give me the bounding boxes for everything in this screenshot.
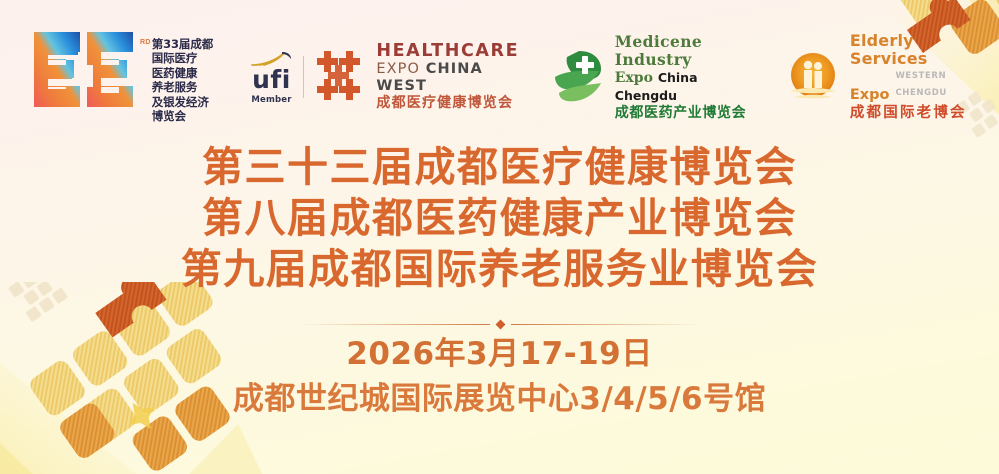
healthcare-expo-line-1: HEALTHCARE (376, 42, 519, 61)
elderly-expo-line-2-main: Expo (850, 87, 890, 104)
ornamental-divider (298, 318, 702, 330)
healthcare-expo-logo: HEALTHCARE EXPO CHINA WEST 成都医疗健康博览会 (312, 42, 519, 112)
headline-block: 第三十三届成都医疗健康博览会 第八届成都医药健康产业博览会 第九届成都国际养老服… (0, 142, 999, 295)
healthcare-expo-line-3: 成都医疗健康博览会 (376, 95, 519, 112)
headline-line-3: 第九届成都国际养老服务业博览会 (0, 244, 999, 295)
divider-rule-left (298, 324, 490, 325)
edition-logo-text: RD 第33届成都 国际医疗 医药健康 养老服务 及银发经济 博览会 (140, 37, 213, 123)
ufi-member-logo: ufi Member (250, 50, 294, 105)
elderly-expo-line-1: Elderly Services (850, 32, 973, 68)
medicine-expo-text: Medicene Industry Expo China Chengdu 成都医… (615, 33, 754, 122)
edition-logo: RD 第33届成都 国际医疗 医药健康 养老服务 及银发经济 博览会 (32, 27, 213, 127)
diamond-ornament-icon (495, 319, 505, 329)
medicine-expo-line-2: Expo China Chengdu (615, 69, 754, 105)
medicine-leaf-cross-icon (549, 49, 607, 105)
divider-rule-right (511, 324, 703, 325)
medicine-expo-logo: Medicene Industry Expo China Chengdu 成都医… (549, 33, 754, 122)
edition-text-line-2: 国际医疗 (152, 51, 213, 65)
event-date: 2026年3月17-19日 (0, 333, 999, 375)
elderly-expo-line-2-sub: WESTERN CHENGDU (895, 68, 973, 102)
ufi-swoosh-icon (250, 50, 294, 67)
healthcare-expo-line-2-light: EXPO (376, 61, 425, 77)
medicine-expo-line-1: Medicene Industry (615, 33, 754, 69)
medicine-expo-line-2-serif: Expo (615, 70, 658, 86)
expo-banner: RD 第33届成都 国际医疗 医药健康 养老服务 及银发经济 博览会 (0, 0, 999, 474)
logo-separator-1 (303, 56, 304, 98)
event-venue: 成都世纪城国际展览中心3/4/5/6号馆 (0, 378, 999, 420)
edition-text-line-3: 医药健康 (152, 66, 213, 80)
elderly-expo-line-2: ExpoWESTERN CHENGDU (850, 68, 973, 104)
edition-number-33-icon (32, 27, 136, 127)
ufi-member-caption: Member (251, 95, 291, 105)
edition-text-line-4: 养老服务 (152, 80, 213, 94)
elderly-expo-logo: Elderly Services ExpoWESTERN CHENGDU 成都国… (784, 32, 973, 122)
elderly-expo-line-3: 成都国际老博会 (850, 104, 973, 122)
headline-line-1: 第三十三届成都医疗健康博览会 (0, 142, 999, 193)
headline-line-2: 第八届成都医药健康产业博览会 (0, 193, 999, 244)
healthcare-expo-line-2: EXPO CHINA WEST (376, 61, 519, 95)
edition-text-line-1: 第33届成都 (152, 37, 213, 51)
elderly-expo-text: Elderly Services ExpoWESTERN CHENGDU 成都国… (850, 32, 973, 122)
edition-text-line-6: 博览会 (152, 109, 213, 123)
ufi-wordmark: ufi (252, 67, 291, 92)
healthcare-cross-cluster-icon (312, 49, 368, 105)
edition-ordinal-suffix: RD (140, 39, 151, 46)
edition-text-line-5: 及银发经济 (152, 95, 213, 109)
elderly-sun-figures-icon (784, 49, 842, 105)
logo-strip: RD 第33届成都 国际医疗 医药健康 养老服务 及银发经济 博览会 (26, 18, 973, 136)
healthcare-expo-text: HEALTHCARE EXPO CHINA WEST 成都医疗健康博览会 (376, 42, 519, 112)
medicine-expo-line-3: 成都医药产业博览会 (615, 105, 754, 122)
